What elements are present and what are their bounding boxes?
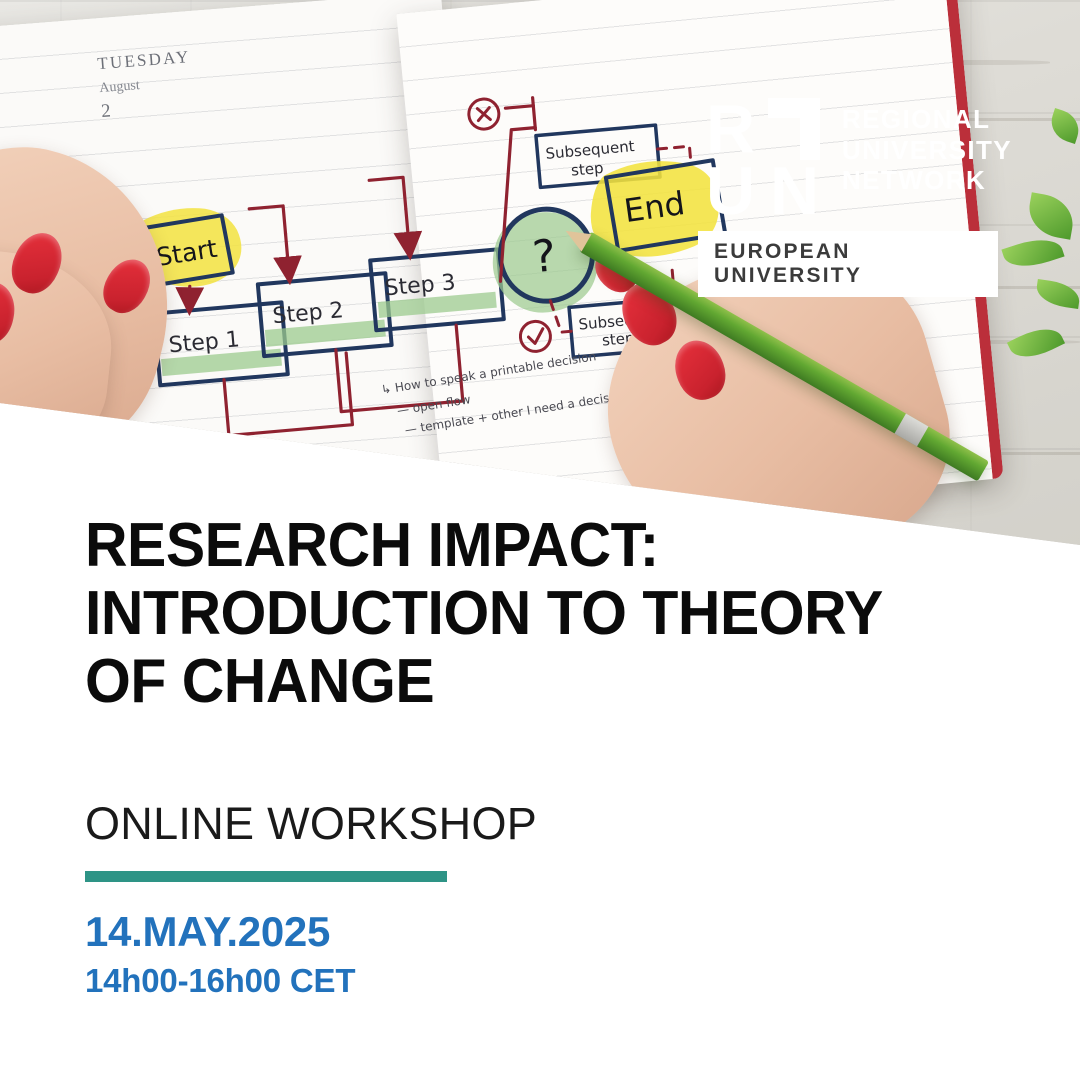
logo-wordmark: REGIONAL UNIVERSITY NETWORK	[842, 98, 1012, 196]
title-line-2: INTRODUCTION TO THEORY	[85, 580, 969, 648]
event-type-subtitle: ONLINE WORKSHOP	[85, 798, 537, 850]
logo-top-row: R U N REGIONAL UNIVERSITY NETWORK	[698, 98, 998, 222]
flow-notes: ↳ How to speak a printable decision — op…	[379, 346, 634, 439]
title-line-1: RESEARCH IMPACT:	[85, 512, 969, 580]
svg-text:— template + other I need a de: — template + other I need a decision.	[404, 387, 632, 437]
logo-letter-r: R	[698, 98, 762, 160]
title-line-3: OF CHANGE	[85, 648, 969, 716]
logo-name-line-3: NETWORK	[842, 165, 1012, 196]
logo-letter-n: N	[762, 160, 826, 222]
logo-seven-icon	[762, 98, 826, 160]
svg-text:step: step	[570, 159, 604, 180]
logo-mark-row-1: R	[698, 98, 826, 160]
logo-mark-row-2: U N	[698, 160, 826, 222]
flow-marker-cross	[468, 98, 501, 131]
logo-mark: R U N	[698, 98, 826, 222]
logo-name-line-2: UNIVERSITY	[842, 135, 1012, 166]
poster-canvas: TUESDAY August 2 Start	[0, 0, 1080, 1080]
logo-band-label: EUROPEAN UNIVERSITY	[714, 240, 862, 287]
event-time: 14h00-16h00 CET	[85, 962, 355, 1000]
event-date: 14.MAY.2025	[85, 908, 330, 956]
flow-marker-check	[519, 320, 552, 353]
logo-european-university-band: EUROPEAN UNIVERSITY	[698, 231, 998, 297]
svg-text:↳ How to speak a printable dec: ↳ How to speak a printable decision	[380, 349, 597, 397]
logo-letter-u: U	[698, 160, 762, 222]
svg-text:?: ?	[530, 230, 558, 283]
page-title: RESEARCH IMPACT: INTRODUCTION TO THEORY …	[85, 512, 969, 717]
seven-glyph	[762, 98, 826, 160]
logo-name-line-1: REGIONAL	[842, 104, 1012, 135]
svg-text:Subsequent: Subsequent	[545, 137, 636, 163]
run-logo[interactable]: R U N REGIONAL UNIVERSITY NETWORK EUROPE…	[698, 98, 998, 297]
teal-divider	[85, 871, 447, 882]
